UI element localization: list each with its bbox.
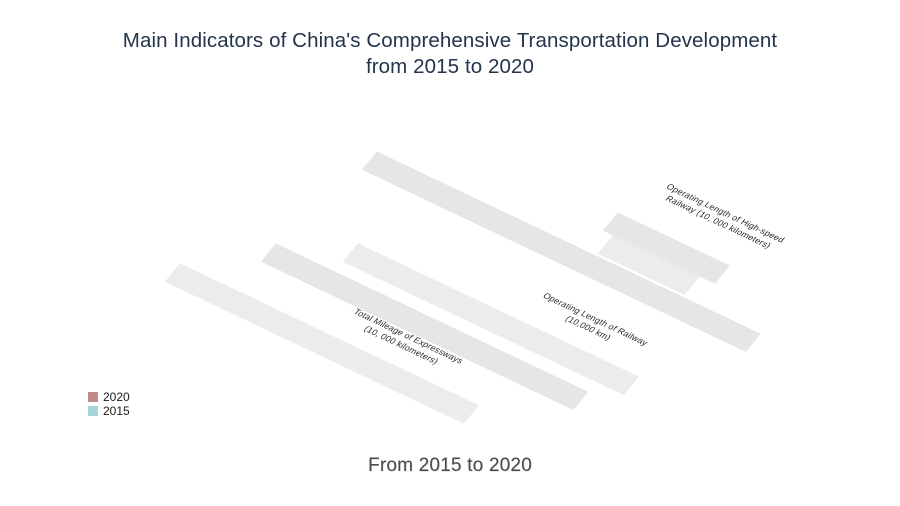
- legend-swatch-2015-icon: [88, 406, 98, 416]
- bar-highspeed-railway-2015: [599, 236, 699, 294]
- category-label-expressways: Total Mileage of Expressways (10, 000 ki…: [339, 304, 470, 376]
- legend-swatch-2020-icon: [88, 392, 98, 402]
- legend-item-2015[interactable]: 2015: [88, 405, 130, 417]
- category-label-highspeed-railway: Operating Length of High-speed Railway (…: [656, 181, 787, 253]
- bar-expressways-2015: [166, 264, 478, 423]
- bar-highspeed-railway-2020: [604, 213, 730, 283]
- category-label-railway: Operating Length of Railway (10,000 km): [526, 287, 657, 359]
- bar-railway-2015: [344, 244, 638, 394]
- legend-label-2020: 2020: [103, 391, 130, 403]
- legend-item-2020[interactable]: 2020: [88, 391, 130, 403]
- legend-label-2015: 2015: [103, 405, 130, 417]
- x-axis-title: From 2015 to 2020: [0, 455, 900, 477]
- bar-expressways-2020: [262, 244, 588, 410]
- chart-legend: 2020 2015: [88, 391, 130, 417]
- bar-railway-2020: [363, 152, 760, 351]
- page-title: Main Indicators of China's Comprehensive…: [0, 28, 900, 80]
- chart-root: Main Indicators of China's Comprehensive…: [0, 0, 900, 506]
